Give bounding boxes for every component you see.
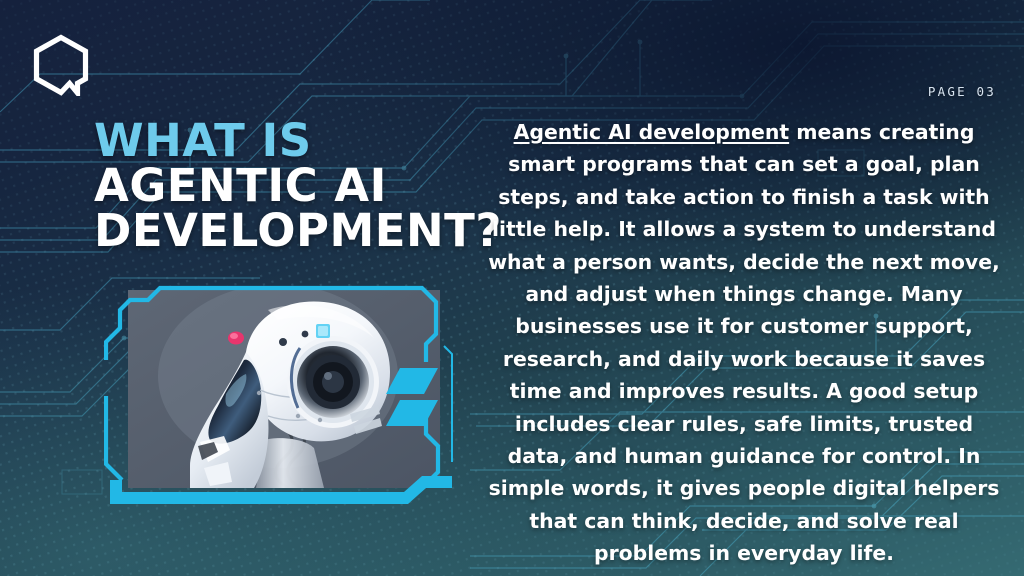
page-title-line-2: AGENTIC AI	[94, 163, 494, 208]
page-title-line-3: DEVELOPMENT?	[94, 208, 494, 253]
slide-canvas: PAGE 03 WHAT IS AGENTIC AI DEVELOPMENT?	[0, 0, 1024, 576]
page-title-line-1: WHAT IS	[94, 118, 494, 163]
body-paragraph: Agentic AI development means creating sm…	[486, 116, 1002, 570]
tech-bracket-frame-icon	[104, 276, 464, 518]
page-title: WHAT IS AGENTIC AI DEVELOPMENT?	[94, 118, 494, 253]
body-rest-text: means creating smart programs that can s…	[488, 120, 1000, 565]
page-number-label: PAGE 03	[928, 84, 996, 99]
image-frame	[104, 276, 464, 518]
hexagon-chat-logo-icon[interactable]	[30, 34, 92, 96]
body-lead-term: Agentic AI development	[514, 120, 790, 144]
